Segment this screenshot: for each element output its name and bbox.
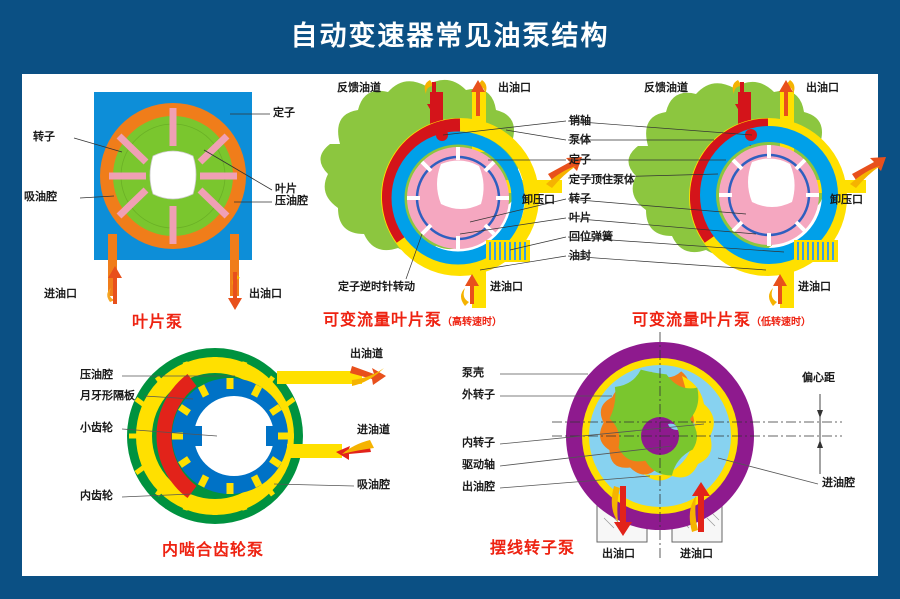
vvp-low-caption: 可变流量叶片泵（低转速时） <box>632 306 811 330</box>
vvp-high-spring-housing <box>486 240 530 262</box>
vane-label-rotor: 转子 <box>33 131 55 142</box>
igp-keyway-right <box>266 426 278 446</box>
vvp-high-label-outlet-port: 出油口 <box>498 82 531 93</box>
gerotor-eccentricity-dim <box>817 394 823 474</box>
igp-inner-bore <box>194 396 274 476</box>
igp-label-small-gear: 小齿轮 <box>80 422 113 433</box>
vvp-low-spring-housing <box>794 240 838 262</box>
gerotor-caption: 摆线转子泵 <box>490 534 575 558</box>
igp-label-outlet-passage: 出油道 <box>350 348 383 359</box>
vvp-low-label-inlet-port: 进油口 <box>798 281 831 292</box>
vvp-low-hub <box>748 158 795 207</box>
gerotor-label-outlet-port: 出油口 <box>602 548 635 559</box>
gerotor-label-pump-shell: 泵壳 <box>462 367 484 378</box>
vvp-low-caption-sub: （低转速时） <box>751 317 811 328</box>
panel-variable-vane-pump-high: 反馈油道 出油口 销轴 泵体 定子 定子顶住泵体 转子 叶片 回位弹簧 油封 卸… <box>310 74 610 329</box>
igp-caption-text: 内啮合齿轮泵 <box>162 540 264 559</box>
vvp-high-label-stator-ccw-rotation: 定子逆时针转动 <box>338 281 415 292</box>
vvp-low-caption-text: 可变流量叶片泵 <box>632 310 751 329</box>
vane-pump-caption: 叶片泵 <box>132 308 183 332</box>
igp-caption: 内啮合齿轮泵 <box>162 536 264 560</box>
igp-label-suction-chamber: 吸油腔 <box>357 479 390 490</box>
vvp-high-label-pin-shaft: 销轴 <box>569 115 591 126</box>
vvp-high-pin-shaft <box>436 129 448 141</box>
gerotor-label-inner-rotor: 内转子 <box>462 437 495 448</box>
vane-label-inlet-port: 进油口 <box>44 288 77 299</box>
vane-hub <box>150 151 196 199</box>
vvp-low-label-relief-port: 卸压口 <box>830 194 863 205</box>
igp-label-crescent-divider: 月牙形隔板 <box>80 390 135 401</box>
panel-variable-vane-pump-low: 反馈油道 出油口 卸压口 进油口 可变流量叶片泵（低转速时） <box>606 74 886 329</box>
gerotor-label-outlet-chamber: 出油腔 <box>462 481 495 492</box>
vane-label-stator: 定子 <box>273 107 295 118</box>
vane-label-suction-chamber: 吸油腔 <box>24 191 57 202</box>
igp-label-pressure-chamber: 压油腔 <box>80 369 113 380</box>
vvp-high-label-rotor: 转子 <box>569 193 591 204</box>
variable-vane-high-drawing <box>310 74 610 314</box>
poster: 自动变速器常见油泵结构 <box>0 0 900 599</box>
page-title: 自动变速器常见油泵结构 <box>0 14 900 53</box>
igp-label-internal-gear: 内齿轮 <box>80 490 113 501</box>
vane-pump-caption-text: 叶片泵 <box>132 312 183 331</box>
vvp-high-label-vane: 叶片 <box>569 212 591 223</box>
igp-keyway-left <box>190 426 202 446</box>
vane-label-outlet-port: 出油口 <box>249 288 282 299</box>
igp-inlet-passage <box>287 444 342 458</box>
vvp-high-label-stator: 定子 <box>569 154 591 165</box>
vvp-low-label-feedback-oil-passage: 反馈油道 <box>644 82 688 93</box>
vane-label-pressure-chamber: 压油腔 <box>275 195 308 206</box>
diagram-canvas: 定子 转子 叶片 吸油腔 压油腔 进油口 出油口 叶片泵 <box>22 74 878 576</box>
panel-gerotor-pump: 泵壳 外转子 内转子 驱动轴 出油腔 偏心距 进油腔 出油口 进油口 摆线转子泵 <box>442 336 878 576</box>
gerotor-label-inlet-chamber: 进油腔 <box>822 477 855 488</box>
vvp-high-label-inlet-port: 进油口 <box>490 281 523 292</box>
vvp-high-caption-sub: （高转速时） <box>442 317 502 328</box>
gerotor-label-inlet-port: 进油口 <box>680 548 713 559</box>
vvp-high-label-pump-body: 泵体 <box>569 134 591 145</box>
vane-label-vane: 叶片 <box>275 183 297 194</box>
panel-vane-pump: 定子 转子 叶片 吸油腔 压油腔 进油口 出油口 叶片泵 <box>22 74 322 329</box>
gerotor-caption-text: 摆线转子泵 <box>490 538 575 557</box>
vvp-high-label-oil-seal: 油封 <box>569 250 591 261</box>
igp-outlet-passage <box>277 371 362 384</box>
panel-internal-gear-pump: 压油腔 月牙形隔板 小齿轮 内齿轮 出油道 进油道 吸油腔 内啮合齿轮泵 <box>52 336 452 576</box>
vvp-high-label-relief-port: 卸压口 <box>522 194 555 205</box>
gerotor-label-eccentricity: 偏心距 <box>802 372 835 383</box>
vvp-high-hub <box>437 160 484 209</box>
vvp-low-relief-arrow <box>850 157 886 188</box>
vvp-high-caption-text: 可变流量叶片泵 <box>323 310 442 329</box>
vvp-low-label-outlet-port: 出油口 <box>806 82 839 93</box>
gerotor-label-drive-shaft: 驱动轴 <box>462 459 495 470</box>
igp-label-inlet-passage: 进油道 <box>357 424 390 435</box>
vvp-high-caption: 可变流量叶片泵（高转速时） <box>323 306 502 330</box>
gerotor-label-outer-rotor: 外转子 <box>462 389 495 400</box>
vvp-high-label-feedback-oil-passage: 反馈油道 <box>337 82 381 93</box>
